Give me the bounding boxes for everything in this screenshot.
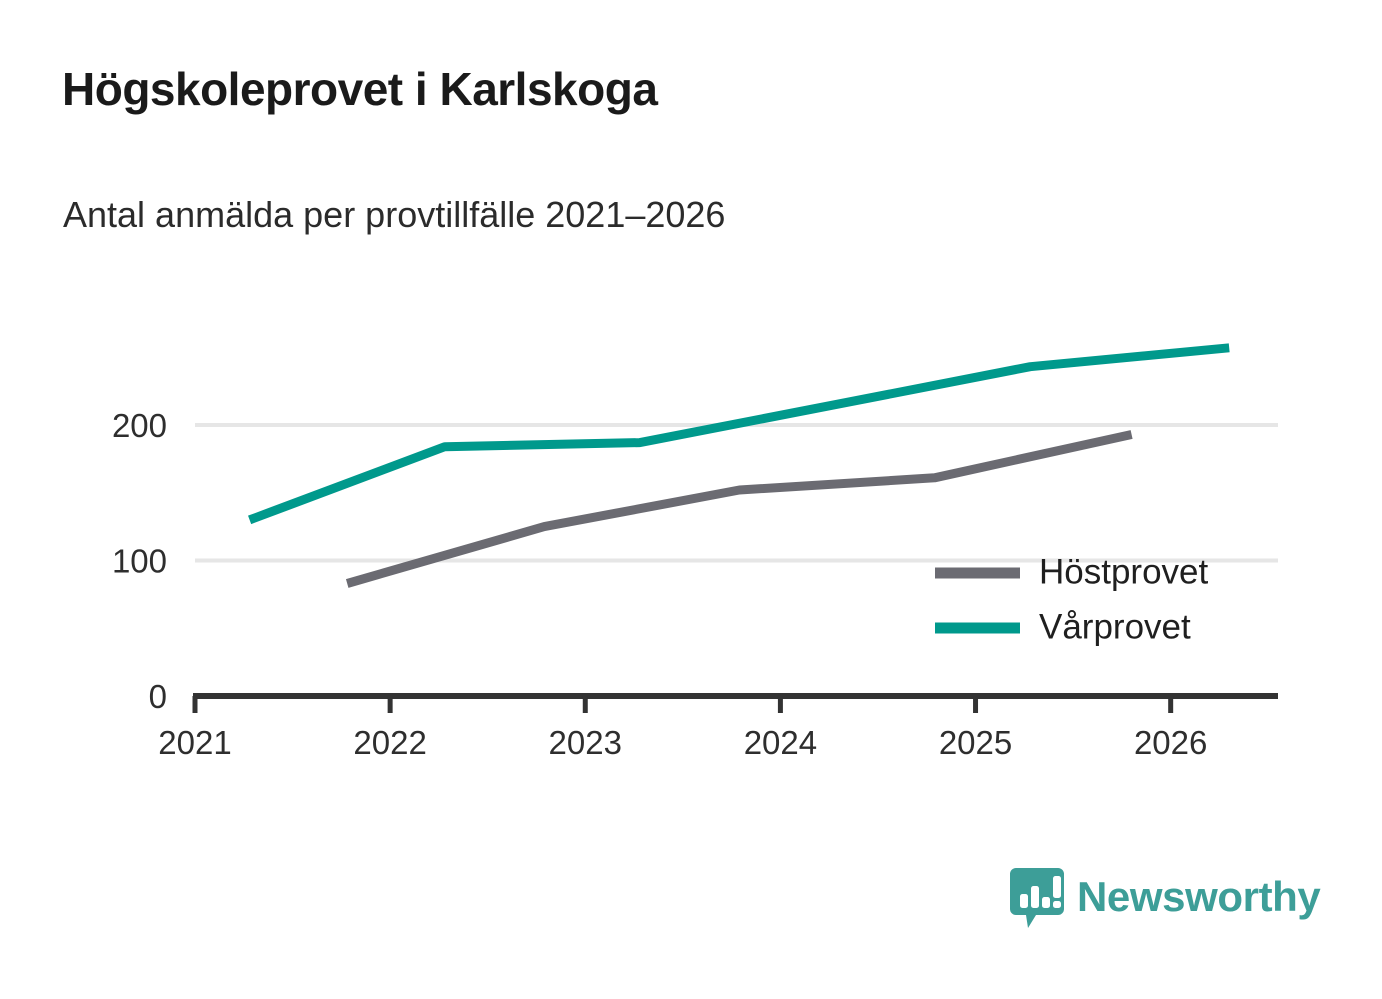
x-tick-label: 2026: [1134, 724, 1207, 761]
series-lines-group: [250, 348, 1230, 584]
chart-legend: HöstprovetVårprovet: [935, 552, 1209, 646]
y-tick-label: 200: [112, 407, 167, 444]
legend-label: Vårprovet: [1039, 607, 1191, 646]
logo-wordmark: Newsworthy: [1077, 876, 1320, 922]
x-tick-label: 2021: [158, 724, 231, 761]
x-tick-label: 2022: [353, 724, 426, 761]
x-axis-tick-labels: 202120222023202420252026: [158, 724, 1207, 761]
x-tick-label: 2023: [549, 724, 622, 761]
x-axis-group: [193, 696, 1278, 713]
y-axis-tick-labels: 0100200: [112, 407, 167, 715]
x-tick-label: 2025: [939, 724, 1012, 761]
x-tick-label: 2024: [744, 724, 817, 761]
y-tick-label: 0: [149, 678, 167, 715]
newsworthy-bar-chart-bubble-icon: [1010, 868, 1064, 930]
legend-label: Höstprovet: [1039, 552, 1209, 591]
y-tick-label: 100: [112, 543, 167, 580]
chart-card: Högskoleprovet i Karlskoga Antal anmälda…: [0, 0, 1382, 999]
newsworthy-logo[interactable]: Newsworthy: [1010, 868, 1320, 930]
line-chart-plot: 0100200 202120222023202420252026 Höstpro…: [0, 0, 1382, 800]
